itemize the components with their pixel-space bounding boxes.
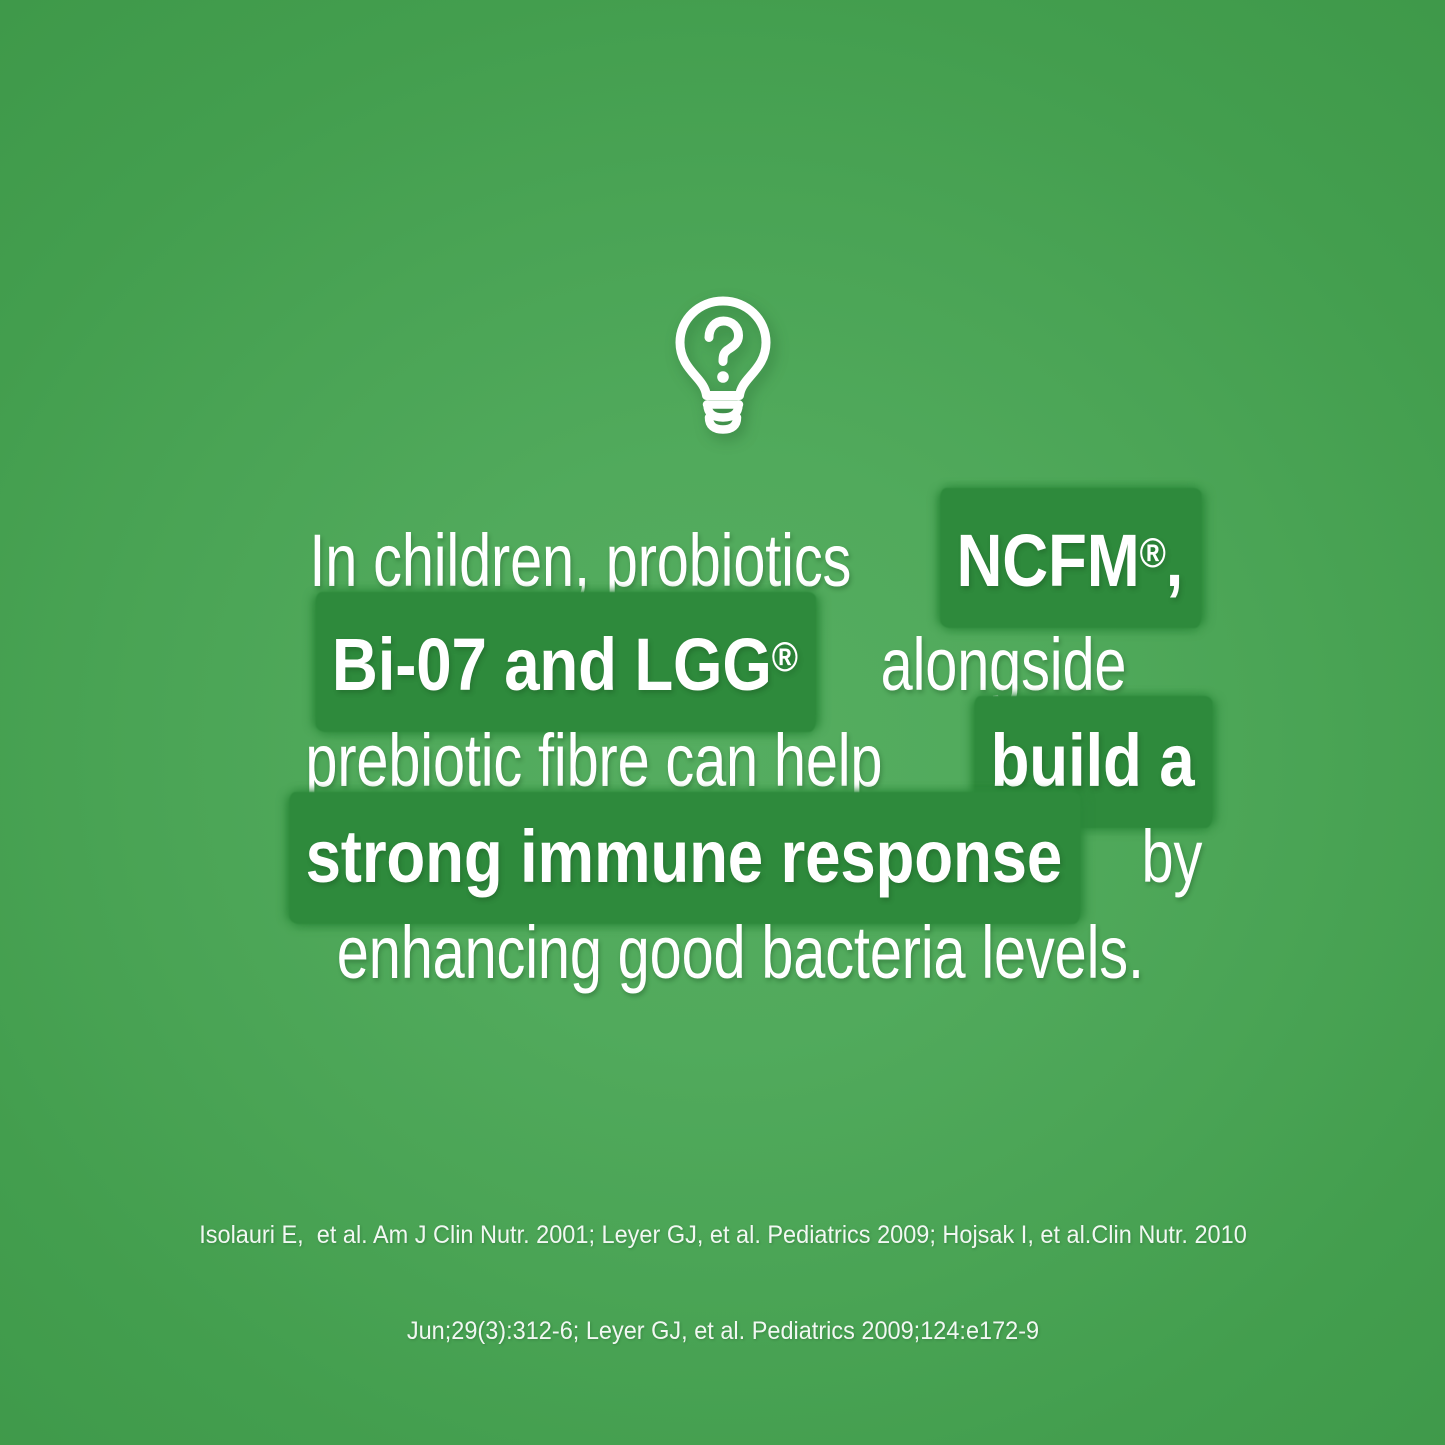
lightbulb-question-icon bbox=[668, 296, 778, 436]
headline-line-1-comma: , bbox=[1166, 519, 1184, 602]
headline-line-4: strong immune response by bbox=[223, 809, 1223, 905]
registered-mark-icon: ® bbox=[772, 633, 798, 680]
lightbulb-question-icon-container bbox=[0, 296, 1445, 436]
headline-line-5-plain: enhancing good bacteria levels. bbox=[336, 905, 1143, 1001]
headline-emphasis-ncfm-label: NCFM bbox=[956, 519, 1139, 602]
promo-card: In children, probiotics NCFM®, Bi-07 and… bbox=[0, 0, 1445, 1445]
citation-line-2: Jun;29(3):312-6; Leyer GJ, et al. Pediat… bbox=[112, 1315, 1334, 1347]
citation-references: Isolauri E, et al. Am J Clin Nutr. 2001;… bbox=[73, 1155, 1373, 1411]
headline-emphasis-strong-immune-response: strong immune response bbox=[297, 809, 1071, 905]
headline-emphasis-ncfm: NCFM®, bbox=[948, 505, 1192, 609]
citation-line-1: Isolauri E, et al. Am J Clin Nutr. 2001;… bbox=[112, 1219, 1334, 1251]
registered-mark-icon: ® bbox=[1140, 529, 1166, 576]
headline-line-4-plain: by bbox=[1142, 809, 1203, 905]
headline-text: In children, probiotics NCFM®, Bi-07 and… bbox=[223, 505, 1223, 1001]
headline-line-5: enhancing good bacteria levels. bbox=[223, 905, 1223, 1001]
headline-emphasis-bi07-lgg-label: Bi-07 and LGG bbox=[332, 623, 772, 706]
headline-emphasis-bi07-lgg: Bi-07 and LGG® bbox=[323, 609, 806, 713]
